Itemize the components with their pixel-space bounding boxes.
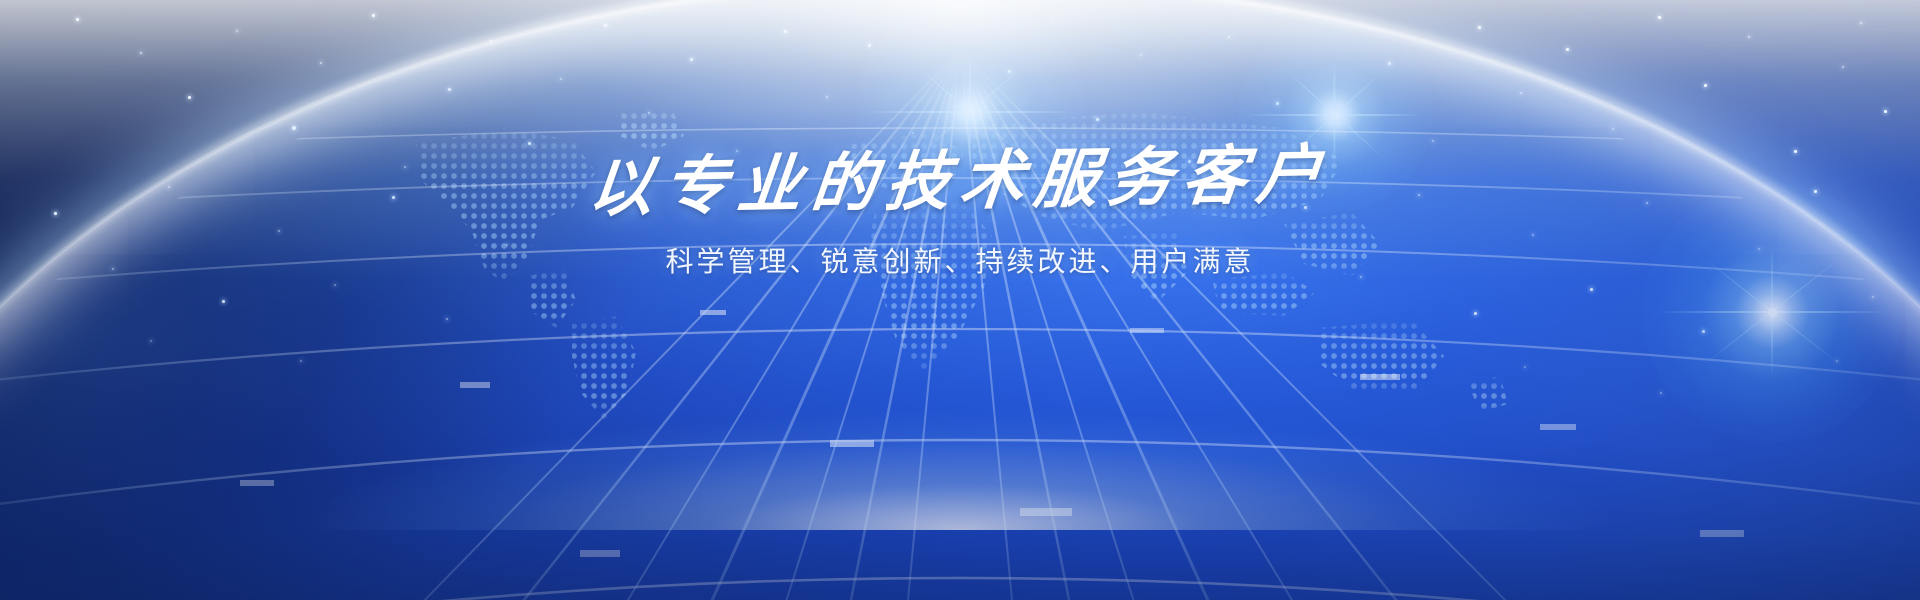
banner-text-block: 以专业的技术服务客户 科学管理、锐意创新、持续改进、用户满意 — [0, 148, 1920, 280]
banner-subtitle: 科学管理、锐意创新、持续改进、用户满意 — [0, 244, 1920, 280]
hero-banner: 以专业的技术服务客户 科学管理、锐意创新、持续改进、用户满意 — [0, 0, 1920, 600]
earth-horizon-icon — [0, 0, 1920, 600]
